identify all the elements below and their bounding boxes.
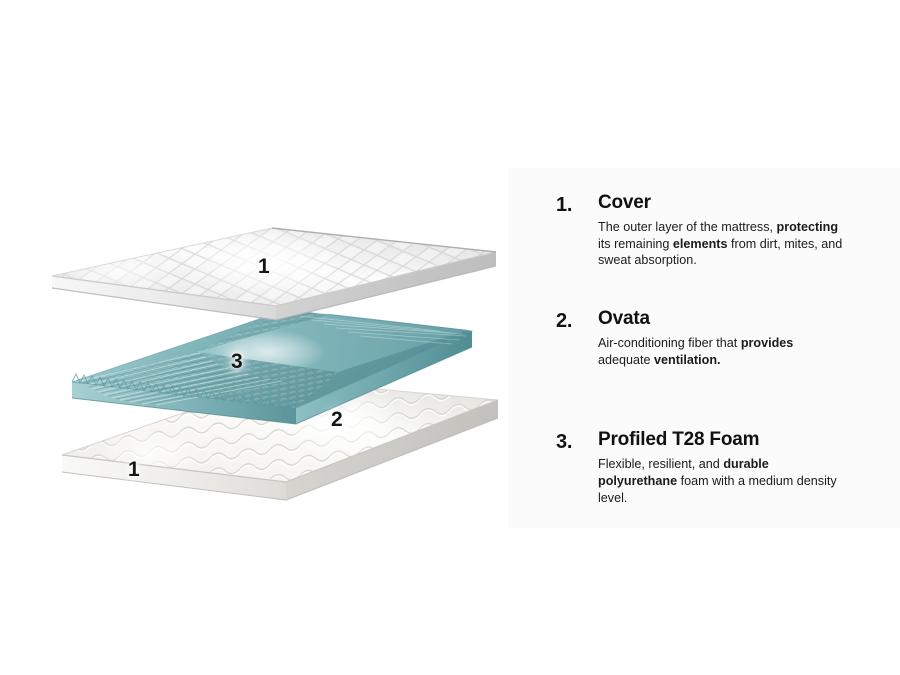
list-item-title: Profiled T28 Foam (598, 430, 886, 451)
illustration-stage: 1 3 2 1 1. Cover The outer layer of the … (0, 0, 900, 675)
layer-description-list: 1. Cover The outer layer of the mattress… (556, 193, 886, 531)
list-item-description: The outer layer of the mattress, protect… (598, 219, 848, 269)
list-item-index: 1. (556, 194, 572, 217)
list-item-ovata: 2. Ovata Air-conditioning fiber that pro… (556, 309, 886, 368)
list-item-description: Air-conditioning fiber that provides ade… (598, 335, 848, 368)
mattress-layers-illustration: 1 3 2 1 (0, 0, 520, 560)
list-item-title: Cover (598, 193, 886, 214)
list-item-index: 2. (556, 310, 572, 333)
list-item-profiled-t28-foam: 3. Profiled T28 Foam Flexible, resilient… (556, 430, 886, 506)
list-item-cover: 1. Cover The outer layer of the mattress… (556, 193, 886, 269)
list-item-title: Ovata (598, 309, 886, 330)
cover-layer-shape (30, 210, 520, 330)
list-item-description: Flexible, resilient, and durable polyure… (598, 456, 848, 506)
list-item-index: 3. (556, 431, 572, 454)
